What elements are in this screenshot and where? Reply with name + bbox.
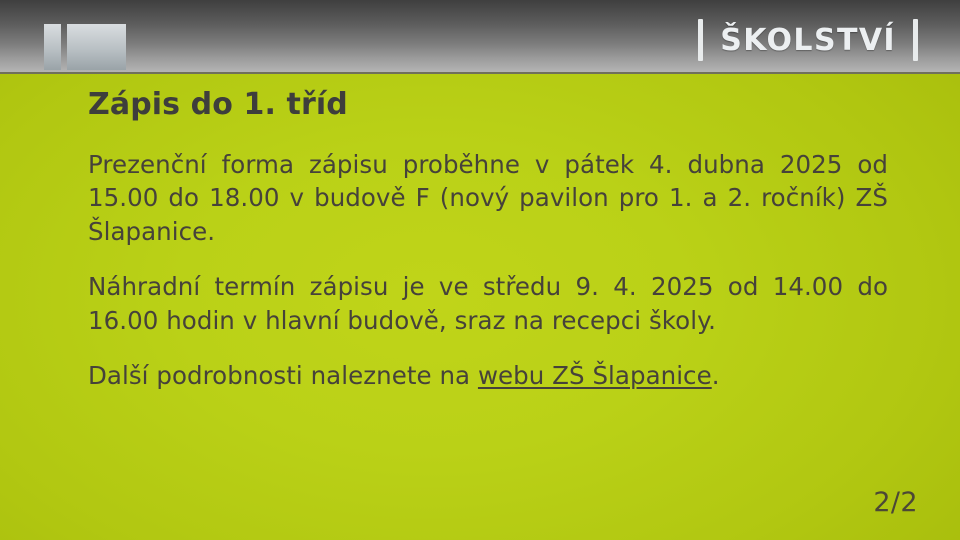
- presentation-slide: ŠKOLSTVÍ Zápis do 1. tříd Prezenční form…: [0, 0, 960, 540]
- details-suffix-text: .: [712, 361, 720, 390]
- details-prefix-text: Další podrobnosti naleznete na: [88, 361, 478, 390]
- brand-title-group: ŠKOLSTVÍ: [698, 19, 918, 61]
- paragraph-presence-form: Prezenční forma zápisu proběhne v pátek …: [88, 148, 888, 249]
- brand-title-text: ŠKOLSTVÍ: [720, 23, 896, 58]
- slide-content: Zápis do 1. tříd Prezenční forma zápisu …: [88, 88, 888, 393]
- page-title: Zápis do 1. tříd: [88, 88, 888, 122]
- paragraph-details: Další podrobnosti naleznete na webu ZŠ Š…: [88, 359, 888, 393]
- school-website-link[interactable]: webu ZŠ Šlapanice: [478, 361, 712, 390]
- page-indicator: 2/2: [873, 487, 918, 518]
- brand-right-bar-icon: [913, 19, 918, 61]
- paragraph-alternative-date: Náhradní termín zápisu je ve středu 9. 4…: [88, 270, 888, 337]
- brand-left-bar-icon: [698, 19, 703, 61]
- slide-header: ŠKOLSTVÍ: [0, 0, 960, 74]
- is-logo-icon: [44, 24, 126, 70]
